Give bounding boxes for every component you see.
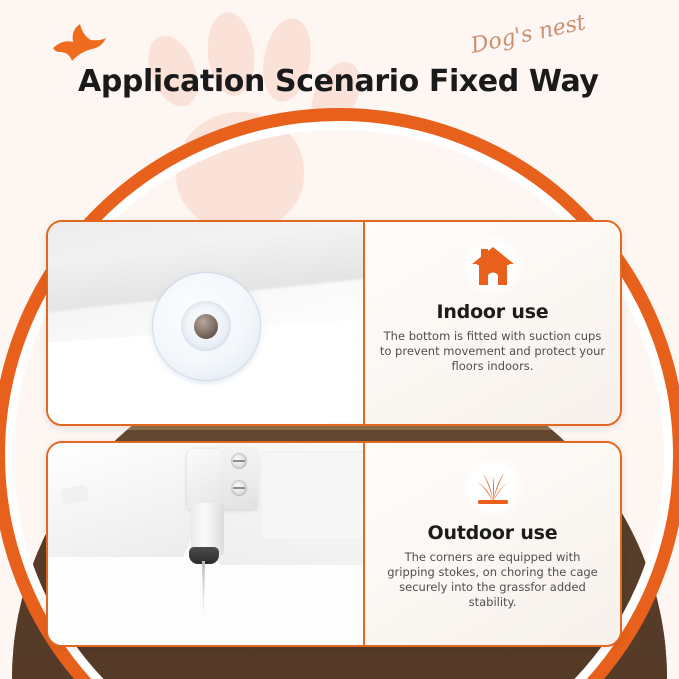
outdoor-use-card: Outdoor use The corners are equipped wit… [46, 441, 622, 647]
indoor-card-title: Indoor use [436, 301, 548, 323]
indoor-use-card: Indoor use The bottom is fitted with suc… [46, 220, 622, 426]
screw-icon-bottom [231, 480, 247, 496]
suction-cup-photo [48, 222, 363, 424]
indoor-icon-halo [462, 235, 524, 297]
screw-icon-top [231, 453, 247, 469]
ground-stake-photo [48, 443, 363, 645]
outdoor-card-body: Outdoor use The corners are equipped wit… [363, 443, 620, 645]
outdoor-card-description: The corners are equipped with gripping s… [365, 550, 620, 610]
cage-inner-frame [260, 451, 363, 541]
suction-cup-nub [194, 314, 218, 339]
outdoor-card-title: Outdoor use [428, 522, 558, 544]
outdoor-icon-halo [462, 456, 524, 518]
indoor-card-body: Indoor use The bottom is fitted with suc… [363, 222, 620, 424]
indoor-card-description: The bottom is fitted with suction cups t… [365, 329, 620, 374]
infographic-canvas: Dog's nest Application Scenario Fixed Wa… [0, 0, 679, 679]
house-icon [470, 245, 516, 287]
page-title: Application Scenario Fixed Way [78, 64, 599, 99]
grass-icon [470, 466, 516, 508]
